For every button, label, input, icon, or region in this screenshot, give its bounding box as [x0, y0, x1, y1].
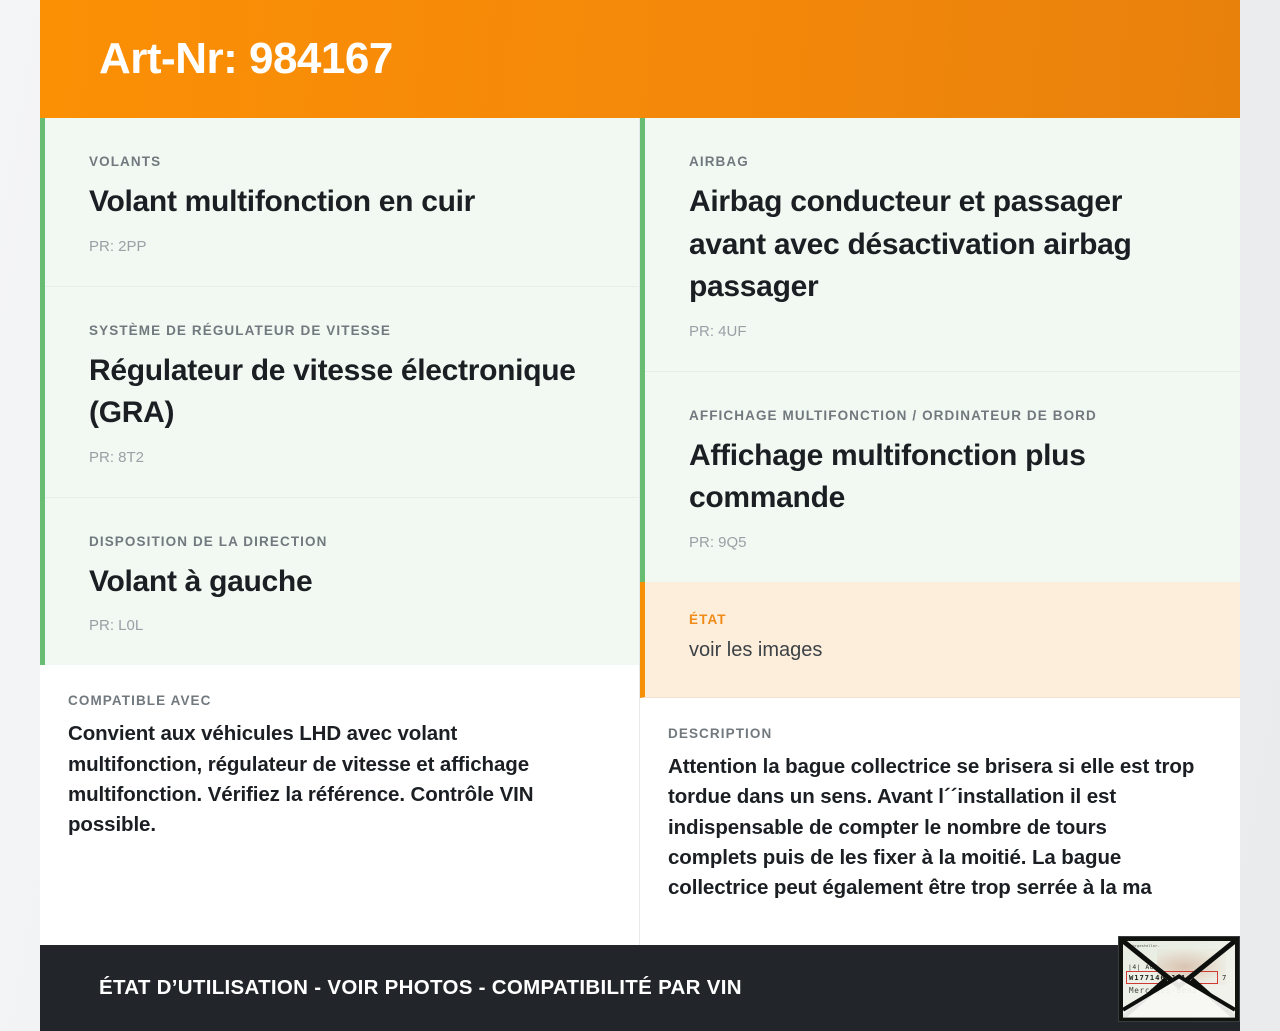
broken-image-thumbnail[interactable]: Fahrgestellnr. |4| AUA W1771463J31 7 Mer…: [1118, 936, 1240, 1022]
description-block: DESCRIPTION Attention la bague collectri…: [640, 698, 1240, 945]
feature-label: VOLANTS: [89, 154, 595, 169]
description-text: Attention la bague collectrice se briser…: [668, 752, 1196, 904]
article-number-title: Art-Nr: 984167: [99, 35, 393, 83]
compatibility-label: COMPATIBLE AVEC: [68, 693, 595, 708]
feature-pr-code: PR: L0L: [89, 617, 595, 635]
left-column: VOLANTS Volant multifonction en cuir PR:…: [40, 118, 640, 945]
feature-label: SYSTÈME DE RÉGULATEUR DE VITESSE: [89, 323, 595, 338]
right-feature-group: AIRBAG Airbag conducteur et passager ava…: [640, 118, 1240, 582]
compatibility-text: Convient aux véhicules LHD avec volant m…: [68, 719, 595, 840]
product-spec-sheet: Art-Nr: 984167 VOLANTS Volant multifonct…: [40, 0, 1240, 1031]
envelope-icon: [1123, 941, 1235, 1018]
feature-card[interactable]: VOLANTS Volant multifonction en cuir PR:…: [45, 118, 639, 287]
compatibility-block: COMPATIBLE AVEC Convient aux véhicules L…: [40, 665, 639, 945]
feature-title: Régulateur de vitesse électronique (GRA): [89, 350, 595, 435]
footer-bar: ÉTAT D’UTILISATION - VOIR PHOTOS - COMPA…: [40, 945, 1240, 1031]
condition-block: ÉTAT voir les images: [640, 582, 1240, 698]
feature-title: Volant multifonction en cuir: [89, 181, 595, 224]
left-feature-group: VOLANTS Volant multifonction en cuir PR:…: [40, 118, 639, 665]
footer-notice: ÉTAT D’UTILISATION - VOIR PHOTOS - COMPA…: [99, 976, 742, 1000]
description-label: DESCRIPTION: [668, 726, 1196, 741]
feature-pr-code: PR: 2PP: [89, 238, 595, 256]
feature-card[interactable]: AIRBAG Airbag conducteur et passager ava…: [645, 118, 1240, 372]
feature-label: AIRBAG: [689, 154, 1196, 169]
header-bar: Art-Nr: 984167: [40, 0, 1240, 118]
content-area: VOLANTS Volant multifonction en cuir PR:…: [40, 118, 1240, 945]
feature-title: Volant à gauche: [89, 561, 595, 604]
feature-title: Affichage multifonction plus commande: [689, 435, 1196, 520]
feature-label: DISPOSITION DE LA DIRECTION: [89, 534, 595, 549]
feature-label: AFFICHAGE MULTIFONCTION / ORDINATEUR DE …: [689, 408, 1196, 423]
feature-card[interactable]: SYSTÈME DE RÉGULATEUR DE VITESSE Régulat…: [45, 287, 639, 498]
condition-value: voir les images: [689, 637, 1196, 663]
feature-pr-code: PR: 8T2: [89, 449, 595, 467]
feature-card[interactable]: AFFICHAGE MULTIFONCTION / ORDINATEUR DE …: [645, 372, 1240, 582]
feature-title: Airbag conducteur et passager avant avec…: [689, 181, 1196, 309]
right-column: AIRBAG Airbag conducteur et passager ava…: [640, 118, 1240, 945]
feature-pr-code: PR: 4UF: [689, 323, 1196, 341]
feature-card[interactable]: DISPOSITION DE LA DIRECTION Volant à gau…: [45, 498, 639, 666]
feature-pr-code: PR: 9Q5: [689, 534, 1196, 552]
condition-label: ÉTAT: [689, 612, 1196, 627]
